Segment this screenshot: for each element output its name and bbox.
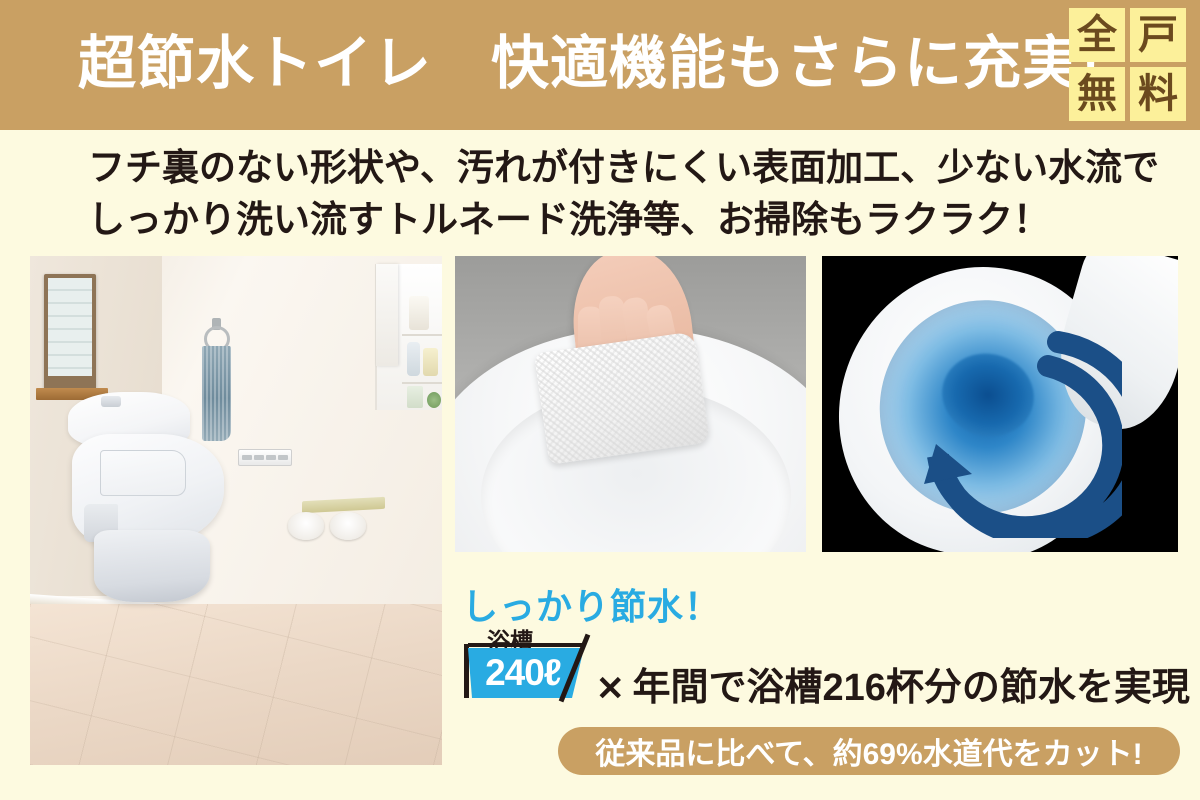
cabinet-candle <box>423 348 438 376</box>
remote-button <box>242 455 252 460</box>
page-title: 超節水トイレ 快適機能もさらに充実! <box>78 28 1101 100</box>
free-for-all-units-badge: 全 戸 無 料 <box>1069 8 1186 121</box>
remote-button <box>266 455 276 460</box>
toilet-unit <box>48 392 228 597</box>
badge-cell-mu: 無 <box>1069 67 1125 121</box>
swirl-arrow-icon <box>862 278 1122 538</box>
cost-cut-banner-text: 従来品に比べて、約69%水道代をカット! <box>595 729 1142 773</box>
remote-button <box>278 455 288 460</box>
cabinet-plant <box>427 392 441 408</box>
toilet-lid-panel <box>100 450 186 496</box>
toilet-paper-roll <box>288 512 324 540</box>
toilet-base <box>94 530 210 602</box>
cabinet-shelf <box>402 334 442 336</box>
cleaning-cloth <box>534 331 710 464</box>
toilet-flush-button <box>101 396 121 407</box>
room-floor-tiles <box>30 604 442 765</box>
bathtub-top-edge <box>468 643 584 647</box>
window-glass-blocks <box>48 278 92 376</box>
toilet-paper-roll <box>330 512 366 540</box>
lead-line-2: しっかり洗い流すトルネード洗浄等、お掃除もラクラク！ <box>88 194 1148 246</box>
header-bar: 超節水トイレ 快適機能もさらに充実! 全 戸 無 料 <box>0 0 1200 130</box>
lead-description: フチ裏のない形状や、汚れが付きにくい表面加工、少ない水流で しっかり洗い流すトル… <box>88 142 1148 246</box>
cabinet-shelf <box>402 382 442 384</box>
cabinet-open-door <box>376 264 398 366</box>
badge-cell-ryo: 料 <box>1130 67 1186 121</box>
cost-cut-banner: 従来品に比べて、約69%水道代をカット! <box>558 727 1180 775</box>
water-saving-formula-text: 年間で浴槽216杯分の節水を実現 <box>633 667 1190 709</box>
cabinet-spare-roll <box>409 296 429 330</box>
multiply-icon: ✕ <box>596 670 625 708</box>
toilet-remote-panel <box>238 449 292 466</box>
promo-page: 超節水トイレ 快適機能もさらに充実! 全 戸 無 料 フチ裏のない形状や、汚れが… <box>0 0 1200 800</box>
cabinet-soap-dispenser <box>407 342 420 376</box>
photo-tornado-flush <box>822 256 1178 552</box>
cabinet-picture-frame <box>407 386 423 408</box>
window-frame <box>44 274 96 390</box>
badge-cell-ko: 戸 <box>1130 8 1186 62</box>
lead-line-1: フチ裏のない形状や、汚れが付きにくい表面加工、少ない水流で <box>88 142 1148 194</box>
toilet-paper-holder <box>288 508 372 544</box>
photo-wiping-rim <box>455 256 806 552</box>
water-saving-formula: ✕年間で浴槽216杯分の節水を実現 <box>596 656 1190 711</box>
remote-button <box>254 455 264 460</box>
badge-cell-zen: 全 <box>1069 8 1125 62</box>
photo-toilet-room <box>30 256 442 765</box>
